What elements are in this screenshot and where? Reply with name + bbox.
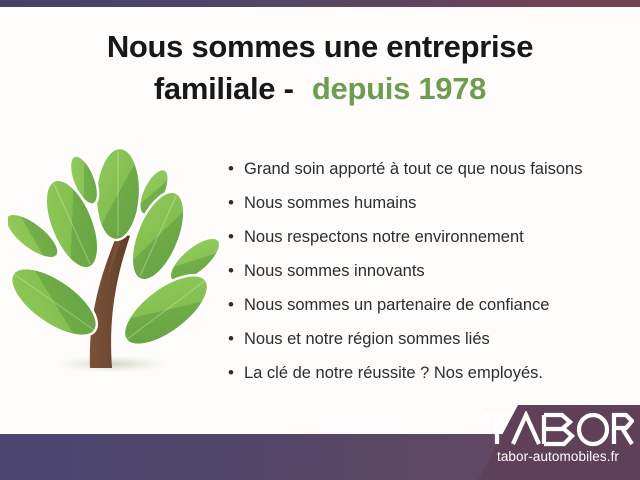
bullet-marker-icon: • xyxy=(228,152,244,186)
top-accent-bar xyxy=(0,0,640,7)
promotional-slide: Nous sommes une entreprise familiale - d… xyxy=(0,0,640,480)
list-item: • Nous sommes innovants xyxy=(228,254,628,288)
list-item: • Nous sommes un partenaire de confiance xyxy=(228,288,628,322)
tree-illustration xyxy=(8,132,220,388)
bullet-marker-icon: • xyxy=(228,356,244,390)
list-item-label: Nous et notre région sommes liés xyxy=(244,322,490,356)
brand-logo[interactable]: tabor-automobiles.fr xyxy=(482,411,640,473)
tree-leaf xyxy=(94,147,143,241)
headline-line-1: Nous sommes une entreprise xyxy=(0,26,640,68)
bullet-marker-icon: • xyxy=(228,288,244,322)
list-item-label: Nous respectons notre environnement xyxy=(244,220,524,254)
list-item: • Nous respectons notre environnement xyxy=(228,220,628,254)
logo-tagline: tabor-automobiles.fr xyxy=(482,448,634,466)
bullet-marker-icon: • xyxy=(228,254,244,288)
tree-leaf xyxy=(113,262,219,357)
list-item-label: Nous sommes humains xyxy=(244,186,416,220)
list-item: • Grand soin apporté à tout ce que nous … xyxy=(228,152,628,186)
list-item: • La clé de notre réussite ? Nos employé… xyxy=(228,356,628,390)
bullet-marker-icon: • xyxy=(228,322,244,356)
headline-accent-since-year: depuis 1978 xyxy=(312,71,486,106)
headline-line-2: familiale - depuis 1978 xyxy=(0,68,640,110)
list-item-label: Grand soin apporté à tout ce que nous fa… xyxy=(244,152,582,186)
list-item-label: La clé de notre réussite ? Nos employés. xyxy=(244,356,543,390)
list-item-label: Nous sommes innovants xyxy=(244,254,425,288)
tree-ground-shadow xyxy=(55,355,169,373)
bullet-marker-icon: • xyxy=(228,220,244,254)
value-proposition-list: • Grand soin apporté à tout ce que nous … xyxy=(228,152,628,390)
list-item: • Nous sommes humains xyxy=(228,186,628,220)
list-item: • Nous et notre région sommes liés xyxy=(228,322,628,356)
logo-wordmark xyxy=(482,411,640,447)
page-title: Nous sommes une entreprise familiale - d… xyxy=(0,26,640,110)
list-item-label: Nous sommes un partenaire de confiance xyxy=(244,288,549,322)
bullet-marker-icon: • xyxy=(228,186,244,220)
headline-line-2-main: familiale - xyxy=(154,71,302,106)
